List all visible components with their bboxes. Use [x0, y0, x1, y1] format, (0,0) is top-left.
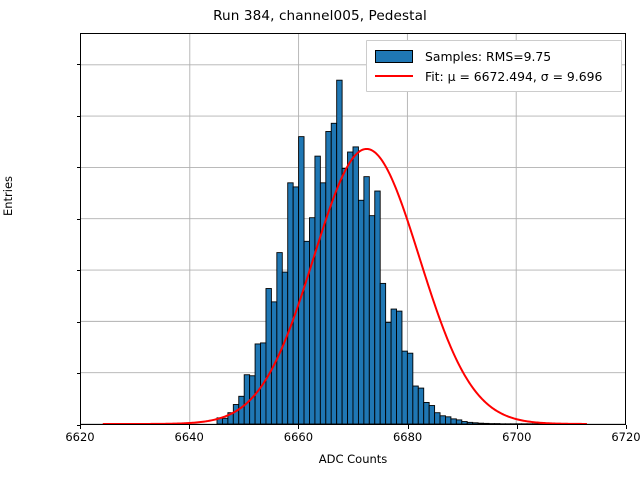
- x-axis-label: ADC Counts: [80, 452, 626, 466]
- x-tick-mark-6660: [298, 425, 299, 429]
- x-tick-mark-6700: [517, 425, 518, 429]
- x-tick-6660: 6660: [258, 430, 338, 444]
- x-tick-mark-6720: [626, 425, 627, 429]
- legend-item-fit: Fit: μ = 6672.494, σ = 9.696: [375, 66, 613, 86]
- x-tick-mark-6620: [80, 425, 81, 429]
- samples-color-swatch: [375, 50, 413, 63]
- chart-title: Run 384, channel005, Pedestal: [0, 8, 640, 24]
- x-tick-mark-6680: [408, 425, 409, 429]
- legend-label-fit: Fit: μ = 6672.494, σ = 9.696: [425, 69, 602, 84]
- legend-item-samples: Samples: RMS=9.75: [375, 46, 613, 66]
- x-tick-6720: 6720: [586, 430, 640, 444]
- fit-color-swatch: [375, 75, 413, 77]
- chart-legend: Samples: RMS=9.75 Fit: μ = 6672.494, σ =…: [366, 40, 622, 92]
- legend-label-samples: Samples: RMS=9.75: [425, 49, 551, 64]
- x-tick-6700: 6700: [477, 430, 557, 444]
- legend-swatch-fit: [375, 75, 419, 77]
- x-tick-6640: 6640: [149, 430, 229, 444]
- x-tick-6680: 6680: [368, 430, 448, 444]
- gaussian-fit-curve: [81, 34, 625, 424]
- x-tick-mark-6640: [189, 425, 190, 429]
- chart-figure: Run 384, channel005, Pedestal Entries AD…: [0, 0, 640, 480]
- y-axis-label: Entries: [1, 126, 15, 266]
- x-tick-6620: 6620: [40, 430, 120, 444]
- legend-swatch-samples: [375, 50, 419, 63]
